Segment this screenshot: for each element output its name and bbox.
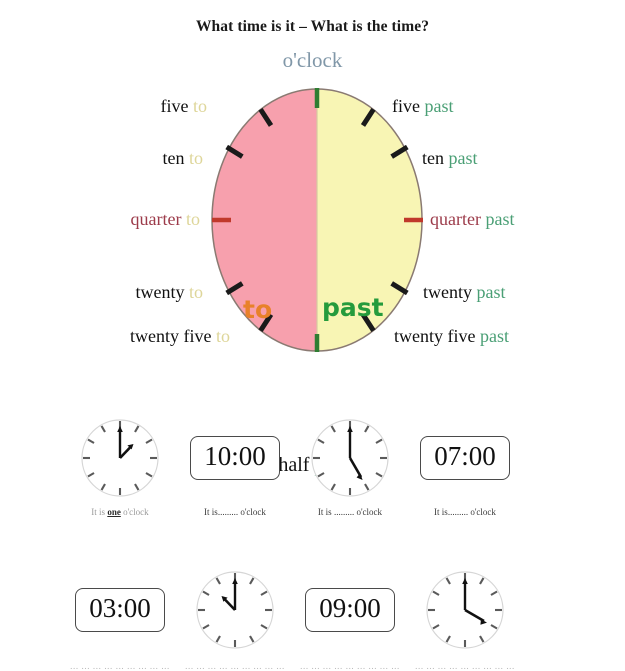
- label-quarter-to-main: quarter: [131, 209, 182, 229]
- caption-prefix-3: It is: [318, 507, 332, 517]
- exercise-caption-2: It is......... o'clock: [170, 507, 300, 517]
- digital-clock-5: 03:00: [55, 567, 185, 653]
- exercise-caption-3: It is ......... o'clock: [285, 507, 415, 517]
- caption-blank-4[interactable]: .........: [448, 507, 468, 517]
- exercise-item-6[interactable]: ... ... ... ... ... ... ... ... ...: [170, 567, 300, 671]
- exercise-item-1[interactable]: It is one o'clock: [55, 415, 185, 517]
- answer-blank-8[interactable]: ... ... ... ... ... ... ... ... ...: [400, 661, 530, 671]
- label-ten-past-keyword: past: [449, 148, 478, 168]
- label-twentyfive-past-main: twenty five: [394, 326, 475, 346]
- digital-clock-4-value: 07:00: [420, 436, 510, 479]
- exercise-caption-4: It is......... o'clock: [400, 507, 530, 517]
- label-quarter-past-main: quarter: [430, 209, 481, 229]
- caption-suffix-2: o'clock: [240, 507, 266, 517]
- analog-clock-3-face: [309, 417, 391, 499]
- label-quarter-to-keyword: to: [186, 209, 200, 229]
- center-word-past: past: [322, 293, 384, 322]
- digital-clock-4: 07:00: [400, 415, 530, 501]
- exercise-area: It is one o'clock 10:00 It is......... o…: [0, 415, 625, 671]
- label-five-past-keyword: past: [424, 96, 453, 116]
- label-twentyfive-past-keyword: past: [480, 326, 509, 346]
- label-five-to: five to: [20, 96, 207, 117]
- exercise-item-4[interactable]: 07:00 It is......... o'clock: [400, 415, 530, 517]
- digital-clock-2-value: 10:00: [190, 436, 280, 479]
- page-title: What time is it – What is the time?: [0, 18, 625, 36]
- label-five-past: five past: [392, 96, 453, 117]
- label-twentyfive-to-main: twenty five: [130, 326, 211, 346]
- exercise-item-3[interactable]: It is ......... o'clock: [285, 415, 415, 517]
- label-twentyfive-past: twenty five past: [394, 326, 509, 347]
- caption-prefix-1: It is: [91, 507, 105, 517]
- exercise-item-5[interactable]: 03:00 ... ... ... ... ... ... ... ... ..…: [55, 567, 185, 671]
- label-twenty-to-main: twenty: [135, 282, 184, 302]
- center-word-to: to: [243, 295, 272, 324]
- analog-clock-8-face: [424, 569, 506, 651]
- clock-diagram: to past five to ten to quarter to twenty…: [0, 86, 625, 386]
- exercise-item-8[interactable]: ... ... ... ... ... ... ... ... ...: [400, 567, 530, 671]
- label-ten-past-main: ten: [422, 148, 444, 168]
- label-twenty-past-main: twenty: [423, 282, 472, 302]
- label-five-to-keyword: to: [193, 96, 207, 116]
- label-ten-to: ten to: [20, 148, 203, 169]
- analog-clock-3: [285, 415, 415, 501]
- label-quarter-to: quarter to: [10, 209, 200, 230]
- label-five-to-main: five: [161, 96, 189, 116]
- caption-answer-1: one: [107, 507, 121, 517]
- label-twenty-past: twenty past: [423, 282, 506, 303]
- answer-blank-6[interactable]: ... ... ... ... ... ... ... ... ...: [170, 661, 300, 671]
- label-twenty-past-keyword: past: [477, 282, 506, 302]
- label-quarter-past-keyword: past: [485, 209, 514, 229]
- digital-clock-7: 09:00: [285, 567, 415, 653]
- answer-blank-7[interactable]: ... ... ... ... ... ... ... ... ...: [285, 661, 415, 671]
- digital-clock-5-value: 03:00: [75, 588, 165, 631]
- digital-clock-2: 10:00: [170, 415, 300, 501]
- label-quarter-past: quarter past: [430, 209, 514, 230]
- caption-suffix-3: o'clock: [356, 507, 382, 517]
- exercise-item-2[interactable]: 10:00 It is......... o'clock: [170, 415, 300, 517]
- label-twentyfive-to-keyword: to: [216, 326, 230, 346]
- label-ten-to-keyword: to: [189, 148, 203, 168]
- answer-blank-5[interactable]: ... ... ... ... ... ... ... ... ...: [55, 661, 185, 671]
- label-five-past-main: five: [392, 96, 420, 116]
- oclock-heading: o'clock: [0, 48, 625, 73]
- caption-prefix-4: It is: [434, 507, 448, 517]
- analog-clock-6: [170, 567, 300, 653]
- label-twenty-to-keyword: to: [189, 282, 203, 302]
- label-twenty-to: twenty to: [10, 282, 203, 303]
- caption-suffix-1: o'clock: [123, 507, 149, 517]
- analog-clock-1-face: [79, 417, 161, 499]
- label-ten-past: ten past: [422, 148, 478, 169]
- digital-clock-7-value: 09:00: [305, 588, 395, 631]
- caption-blank-2[interactable]: .........: [218, 507, 238, 517]
- caption-suffix-4: o'clock: [470, 507, 496, 517]
- exercise-caption-1: It is one o'clock: [55, 507, 185, 517]
- analog-clock-6-face: [194, 569, 276, 651]
- caption-prefix-2: It is: [204, 507, 218, 517]
- label-ten-to-main: ten: [162, 148, 184, 168]
- analog-clock-1: [55, 415, 185, 501]
- caption-blank-3[interactable]: .........: [334, 507, 354, 517]
- exercise-item-7[interactable]: 09:00 ... ... ... ... ... ... ... ... ..…: [285, 567, 415, 671]
- label-twentyfive-to: twenty five to: [5, 326, 230, 347]
- analog-clock-8: [400, 567, 530, 653]
